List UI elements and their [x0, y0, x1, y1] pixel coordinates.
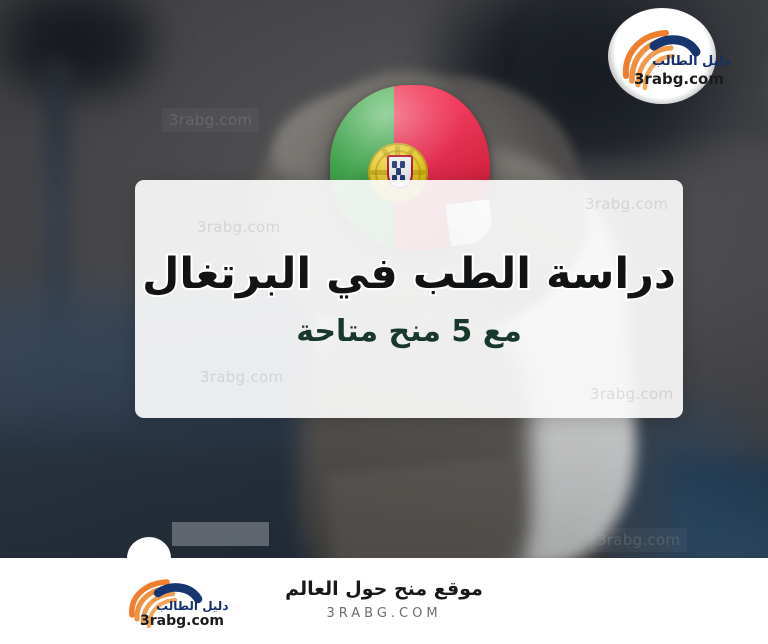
brand-logomark: دليل الطالب 3rabg.com — [608, 8, 716, 104]
footer-bar: دليل الطالب 3rabg.com موقع منح حول العال… — [0, 558, 768, 644]
headline-card: 3rabg.com 3rabg.com 3rabg.com 3rabg.com … — [135, 180, 683, 418]
footer-domain: 3RABG.COM — [0, 606, 768, 621]
poster-canvas: 3rabg.com 3rabg.com 3rabg.com — [0, 0, 768, 644]
logo-name-en: 3rabg.com — [634, 70, 724, 88]
logo-name-ar: دليل الطالب — [652, 54, 731, 69]
page-title: دراسة الطب في البرتغال — [135, 252, 683, 297]
watermark: 3rabg.com — [583, 382, 680, 406]
page-subtitle: مع 5 منح متاحة — [135, 314, 683, 349]
watermark: 3rabg.com — [193, 365, 290, 389]
brand-logo-badge[interactable]: دليل الطالب 3rabg.com — [608, 8, 716, 104]
watermark: 3rabg.com — [190, 215, 287, 239]
footer-tagline: موقع منح حول العالم — [0, 578, 768, 600]
watermark: 3rabg.com — [578, 192, 675, 216]
